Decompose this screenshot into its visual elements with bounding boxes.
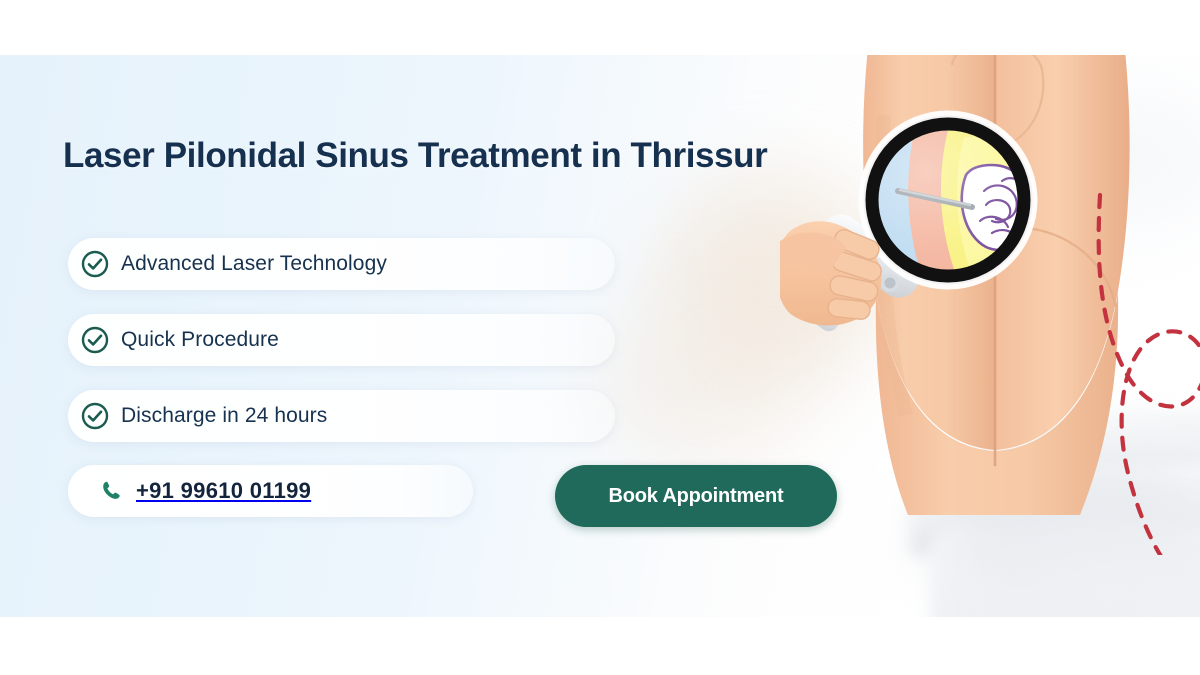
magnifier-lens-cross-section	[870, 119, 1032, 285]
background-bed-shape	[1040, 410, 1200, 480]
background-bed-shape	[930, 525, 1200, 617]
check-circle-icon	[81, 326, 109, 354]
feature-label: Quick Procedure	[121, 328, 279, 352]
background-bed-shape	[910, 465, 1200, 555]
feature-item-quick-procedure[interactable]: Quick Procedure	[68, 314, 615, 366]
magnifier-handle	[780, 207, 928, 335]
feature-label: Discharge in 24 hours	[121, 404, 327, 428]
feature-label: Advanced Laser Technology	[121, 252, 387, 276]
background-blur-shape	[660, 175, 890, 385]
hair-nest	[980, 178, 1024, 239]
background-blur-shape	[1010, 90, 1200, 230]
feature-item-discharge-in-24-hours[interactable]: Discharge in 24 hours	[68, 390, 615, 442]
background-blur-shape	[930, 450, 1200, 600]
hero-banner: Laser Pilonidal Sinus Treatment in Thris…	[0, 55, 1200, 617]
background-blur-shape	[860, 385, 1200, 605]
background-blur-shape	[600, 305, 800, 465]
background-blur-shape	[1000, 525, 1200, 617]
phone-number-text: +91 99610 01199	[136, 478, 311, 504]
hand-holding-magnifier	[780, 221, 884, 325]
phone-icon	[100, 479, 124, 503]
red-dashed-annotation	[1099, 195, 1200, 555]
banner-screenshot: Laser Pilonidal Sinus Treatment in Thris…	[0, 0, 1200, 675]
magnifier-rim	[871, 123, 1025, 277]
book-appointment-button[interactable]: Book Appointment	[555, 465, 837, 527]
feature-item-advanced-laser-technology[interactable]: Advanced Laser Technology	[68, 238, 615, 290]
pilonidal-sinus-illustration	[780, 55, 1200, 555]
check-circle-icon	[81, 250, 109, 278]
gluteal-cleft-body	[863, 55, 1130, 515]
check-circle-icon	[81, 402, 109, 430]
phone-contact-link[interactable]: +91 99610 01199	[68, 465, 473, 517]
sinus-opening	[990, 128, 1000, 166]
page-title: Laser Pilonidal Sinus Treatment in Thris…	[63, 136, 767, 176]
